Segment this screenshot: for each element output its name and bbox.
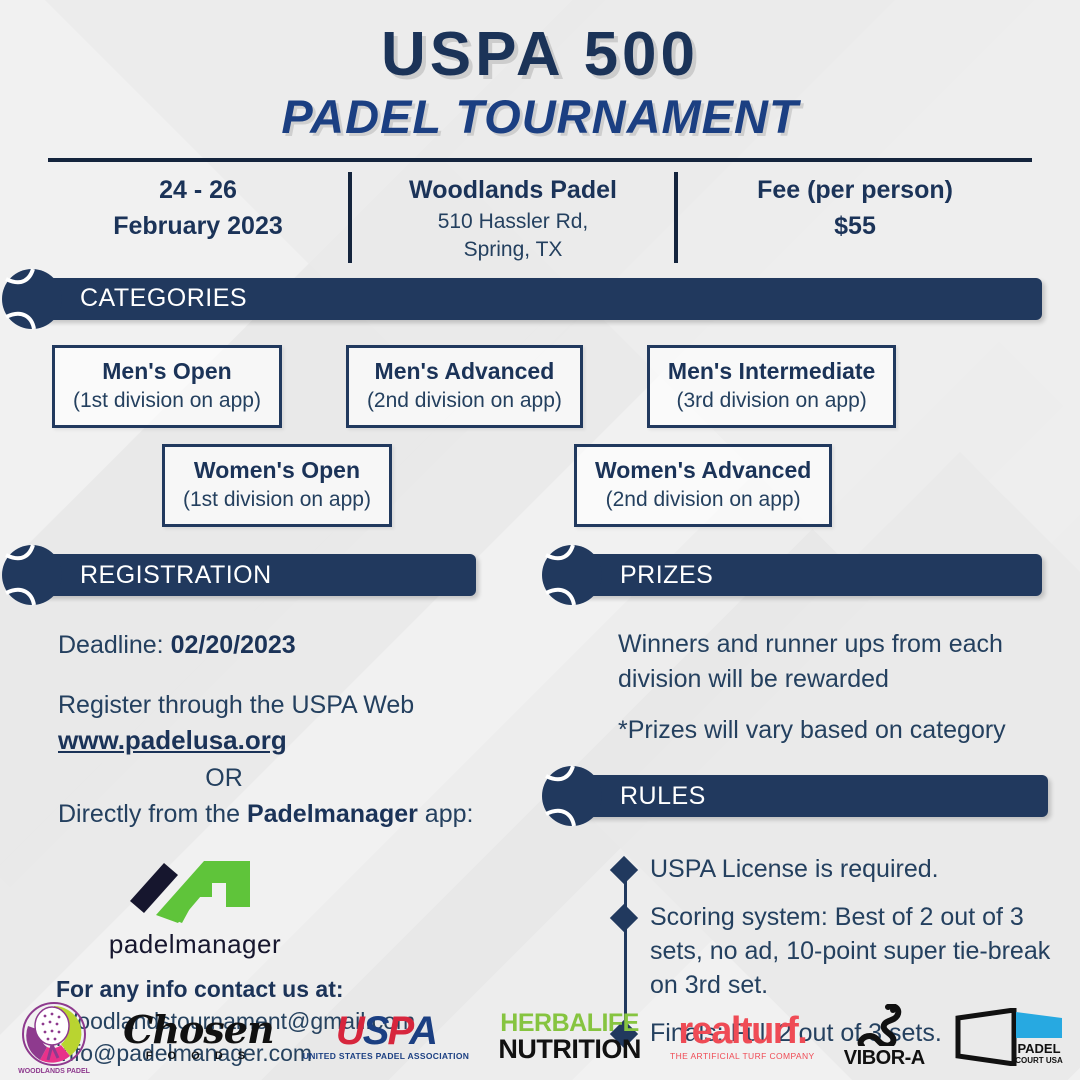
category-box[interactable]: Women's Open (1st division on app) [162, 444, 392, 527]
prizes-band: PRIZES [540, 543, 1080, 607]
rule-text: Scoring system: Best of 2 out of 3 sets,… [634, 900, 1058, 1002]
woodlands-padel-text: WOODLANDS PADEL [18, 1068, 91, 1075]
venue-address-1: 510 Hassler Rd, [358, 208, 668, 235]
prizes-body: Winners and runner ups from each divisio… [540, 607, 1080, 748]
rule-text: USPA License is required. [634, 852, 939, 886]
prizes-line-1: Winners and runner ups from each divisio… [618, 627, 1040, 697]
sponsor-bar: WOODLANDS PADEL Chosen F O O D S USPA UN… [0, 994, 1080, 1080]
deadline-value: 02/20/2023 [171, 631, 296, 659]
sponsor-logo-woodlands-padel: WOODLANDS PADEL [14, 998, 94, 1076]
sponsor-logo-chosen-foods: Chosen F O O D S [123, 1012, 273, 1061]
categories-band-bar: CATEGORIES [34, 278, 1042, 320]
uspa-wordmark: USPA [336, 1013, 436, 1049]
page-subtitle: PADEL TOURNAMENT [0, 89, 1080, 144]
category-box[interactable]: Men's Intermediate (3rd division on app) [647, 345, 896, 428]
registration-column: REGISTRATION Deadline: 02/20/2023 Regist… [0, 543, 540, 1069]
sponsor-logo-padel-court-usa: PADEL COURT USA [954, 1008, 1066, 1066]
registration-url-link[interactable]: www.padelusa.org [58, 723, 540, 758]
or-separator: OR [58, 762, 540, 796]
realturf-subtext: THE ARTIFICIAL TURF COMPANY [670, 1051, 815, 1061]
tennis-ball-icon [540, 764, 604, 828]
prizes-band-bar: PRIZES [574, 554, 1042, 596]
herbalife-wordmark: HERBALIFE [500, 1011, 639, 1036]
tennis-ball-icon [0, 543, 64, 607]
tennis-ball-icon [540, 543, 604, 607]
deadline-line: Deadline: 02/20/2023 [58, 629, 540, 663]
info-fee: Fee (per person) $55 [678, 172, 1032, 245]
app-text-post: app: [418, 800, 474, 828]
sponsor-logo-herbalife: HERBALIFE NUTRITION [498, 1011, 640, 1063]
info-bar: 24 - 26 February 2023 Woodlands Padel 51… [48, 162, 1032, 263]
category-sub: (1st division on app) [73, 387, 261, 414]
category-title: Men's Intermediate [668, 357, 875, 387]
vibora-wordmark: VIBOR-A [844, 1047, 925, 1070]
category-sub: (1st division on app) [183, 486, 371, 513]
category-title: Women's Advanced [595, 456, 811, 486]
register-text: Register through the USPA Web [58, 689, 540, 723]
venue-address-2: Spring, TX [358, 236, 668, 263]
chosen-subtext: F O O D S [146, 1050, 251, 1062]
registration-body: Deadline: 02/20/2023 Register through th… [0, 607, 540, 831]
app-name: Padelmanager [247, 800, 418, 828]
rules-band: RULES [540, 764, 1080, 828]
chosen-wordmark: Chosen [123, 1012, 273, 1048]
categories-section: CATEGORIES Men's Open (1st division on a… [0, 267, 1080, 527]
padel-court-usa-line2: COURT USA [1015, 1056, 1063, 1065]
sponsor-logo-realturf: realturf. THE ARTIFICIAL TURF COMPANY [670, 1013, 815, 1061]
padelmanager-wordmark: padelmanager [0, 929, 390, 960]
date-line-2: February 2023 [54, 208, 342, 244]
deadline-label: Deadline: [58, 631, 171, 659]
venue-name: Woodlands Padel [358, 172, 668, 208]
padelmanager-mark [120, 853, 270, 925]
date-line-1: 24 - 26 [54, 172, 342, 208]
info-venue: Woodlands Padel 510 Hassler Rd, Spring, … [348, 172, 678, 263]
category-title: Women's Open [183, 456, 371, 486]
categories-band: CATEGORIES [0, 267, 1080, 331]
herbalife-subtext: NUTRITION [498, 1036, 640, 1063]
vibora-snake-icon [854, 1004, 914, 1046]
fee-value: $55 [684, 208, 1026, 244]
flyer-page: USPA 500 PADEL TOURNAMENT 24 - 26 Februa… [0, 0, 1080, 1080]
category-sub: (2nd division on app) [595, 486, 811, 513]
registration-band: REGISTRATION [0, 543, 540, 607]
prizes-line-2: *Prizes will vary based on category [618, 713, 1040, 748]
registration-band-bar: REGISTRATION [34, 554, 476, 596]
registration-label: REGISTRATION [34, 561, 272, 590]
category-title: Men's Advanced [367, 357, 562, 387]
category-box[interactable]: Men's Advanced (2nd division on app) [346, 345, 583, 428]
category-sub: (2nd division on app) [367, 387, 562, 414]
prizes-rules-column: PRIZES Winners and runner ups from each … [540, 543, 1080, 1069]
page-title: USPA 500 [0, 22, 1080, 87]
fee-label: Fee (per person) [684, 172, 1026, 208]
app-text: Directly from the Padelmanager app: [58, 798, 540, 832]
category-box[interactable]: Women's Advanced (2nd division on app) [574, 444, 832, 527]
padel-court-usa-line1: PADEL [1017, 1041, 1060, 1056]
rule-item: Scoring system: Best of 2 out of 3 sets,… [618, 900, 1058, 1002]
padelmanager-logo[interactable]: padelmanager [0, 831, 540, 960]
padel-court-usa-icon: PADEL COURT USA [954, 1008, 1066, 1066]
info-date: 24 - 26 February 2023 [48, 172, 348, 245]
category-sub: (3rd division on app) [668, 387, 875, 414]
rule-item: USPA License is required. [618, 852, 1058, 886]
content-columns: REGISTRATION Deadline: 02/20/2023 Regist… [0, 543, 1080, 1069]
realturf-wordmark: realturf. [678, 1013, 806, 1049]
category-boxes: Men's Open (1st division on app) Men's A… [0, 345, 1080, 527]
uspa-subtext: UNITED STATES PADEL ASSOCIATION [303, 1051, 469, 1061]
category-box[interactable]: Men's Open (1st division on app) [52, 345, 282, 428]
header: USPA 500 PADEL TOURNAMENT [0, 0, 1080, 144]
category-title: Men's Open [73, 357, 261, 387]
sponsor-logo-uspa: USPA UNITED STATES PADEL ASSOCIATION [303, 1013, 469, 1061]
woodlands-padel-icon: WOODLANDS PADEL [14, 998, 94, 1076]
sponsor-logo-vibora: VIBOR-A [844, 1004, 925, 1070]
app-text-pre: Directly from the [58, 800, 247, 828]
rules-band-bar: RULES [574, 775, 1048, 817]
categories-label: CATEGORIES [34, 284, 247, 313]
tennis-ball-icon [0, 267, 64, 331]
